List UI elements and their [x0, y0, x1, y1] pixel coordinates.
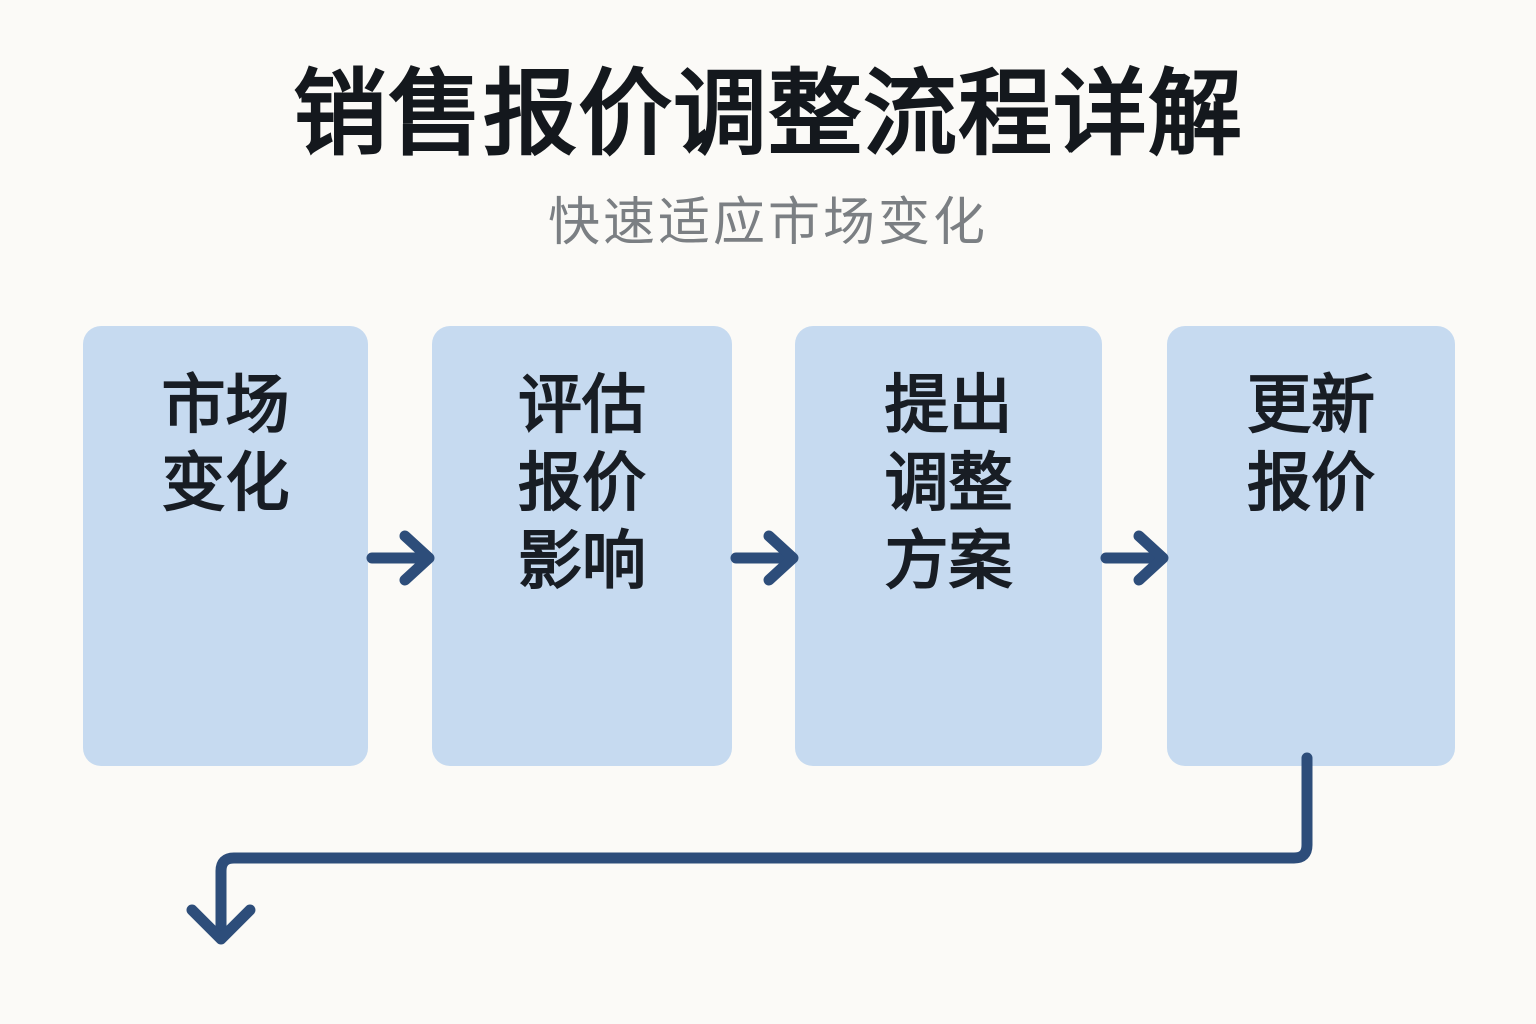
arrow-right-icon — [730, 522, 806, 594]
flow-card-line: 变化 — [101, 444, 350, 522]
flow-card-line: 方案 — [813, 522, 1084, 600]
flow-card-line: 评估 — [450, 366, 714, 444]
flow-card-line: 报价 — [450, 444, 714, 522]
flow-card-line: 报价 — [1185, 444, 1437, 522]
page-subtitle: 快速适应市场变化 — [0, 192, 1536, 254]
flow-card-line: 影响 — [450, 522, 714, 600]
diagram-canvas: 销售报价调整流程详解 快速适应市场变化 市场 变化 评估 报价 影响 提出 调整… — [0, 0, 1536, 1024]
flow-card-label: 更新 报价 — [1167, 366, 1455, 522]
flow-card-market-change[interactable]: 市场 变化 — [83, 326, 368, 766]
loop-back-arrow-icon — [0, 740, 1536, 980]
page-title: 销售报价调整流程详解 — [0, 58, 1536, 170]
flow-card-propose-adjustment-plan[interactable]: 提出 调整 方案 — [795, 326, 1102, 766]
flow-card-label: 市场 变化 — [83, 366, 368, 522]
flow-card-update-quote[interactable]: 更新 报价 — [1167, 326, 1455, 766]
flow-card-line: 市场 — [101, 366, 350, 444]
arrow-right-icon — [1100, 522, 1176, 594]
flow-card-label: 提出 调整 方案 — [795, 366, 1102, 600]
flow-card-line: 调整 — [813, 444, 1084, 522]
arrow-right-icon — [366, 522, 442, 594]
flow-card-line: 更新 — [1185, 366, 1437, 444]
flow-card-label: 评估 报价 影响 — [432, 366, 732, 600]
flow-card-assess-quote-impact[interactable]: 评估 报价 影响 — [432, 326, 732, 766]
flow-card-line: 提出 — [813, 366, 1084, 444]
